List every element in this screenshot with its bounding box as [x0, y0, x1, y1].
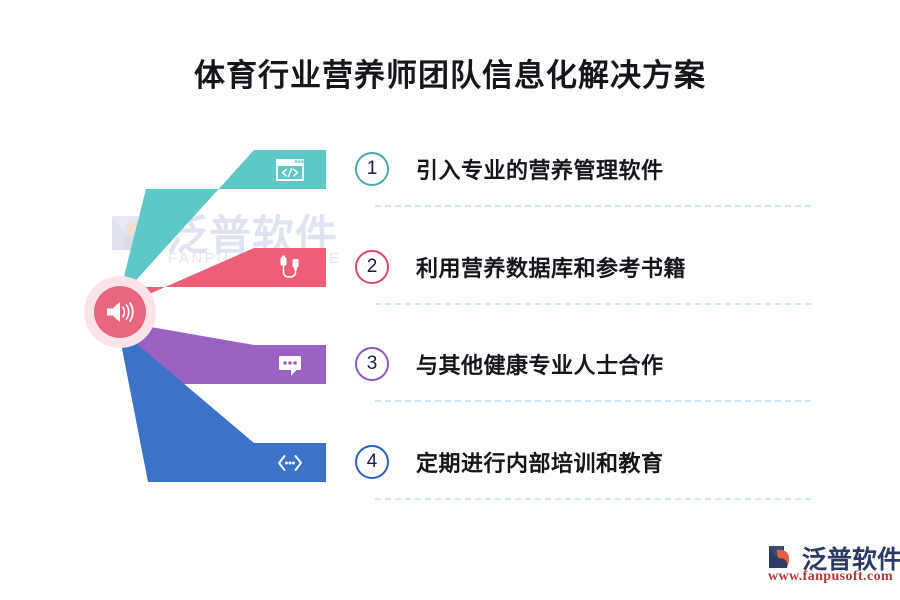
list-item-2[interactable]: 2 利用营养数据库和参考书籍 — [355, 244, 825, 290]
item-divider-1 — [375, 205, 811, 207]
list-item-4[interactable]: 4 定期进行内部培训和教育 — [355, 439, 825, 485]
icon-block-2 — [254, 248, 326, 287]
item-number-badge: 3 — [355, 347, 389, 381]
page-title: 体育行业营养师团队信息化解决方案 — [0, 50, 900, 95]
chat-bubble-icon — [275, 352, 305, 378]
icon-block-4 — [254, 443, 326, 482]
list-item-3[interactable]: 3 与其他健康专业人士合作 — [355, 341, 825, 387]
brand-mark-icon — [768, 543, 801, 571]
icon-block-3 — [254, 345, 326, 384]
item-divider-2 — [375, 303, 811, 305]
item-label: 利用营养数据库和参考书籍 — [416, 251, 686, 283]
item-number-badge: 4 — [355, 445, 389, 479]
item-divider-4 — [375, 498, 811, 500]
hub-core — [94, 286, 146, 338]
speaker-megaphone-icon — [105, 299, 135, 325]
angle-dots-icon — [275, 450, 305, 476]
brand-logo: 泛普软件 www.fanpusoft.com — [768, 540, 892, 586]
item-label: 与其他健康专业人士合作 — [416, 348, 664, 380]
item-label: 定期进行内部培训和教育 — [416, 446, 664, 478]
center-hub — [84, 276, 156, 348]
item-number-badge: 2 — [355, 250, 389, 284]
item-divider-3 — [375, 400, 811, 402]
item-label: 引入专业的营养管理软件 — [416, 153, 664, 185]
infographic-canvas: 泛普软件 FANPU SOFTWARE 体育行业营养师团队信息化解决方案 — [0, 0, 900, 600]
list-item-1[interactable]: 1 引入专业的营养管理软件 — [355, 146, 825, 192]
usb-cable-icon — [275, 255, 305, 281]
code-window-icon — [275, 157, 305, 183]
item-number-badge: 1 — [355, 152, 389, 186]
brand-url: www.fanpusoft.com — [768, 569, 893, 585]
icon-block-1 — [254, 150, 326, 189]
